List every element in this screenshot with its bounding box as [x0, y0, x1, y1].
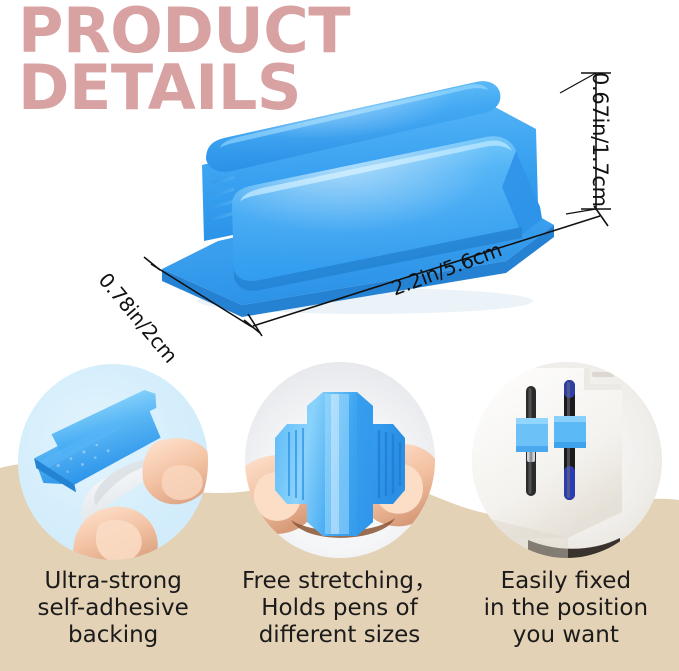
dimension-height-label: 0.67in/1.7cm [588, 72, 612, 207]
feature-photo-stretching [245, 362, 435, 558]
feature-photo-row [0, 362, 679, 572]
feature-photo-adhesive [18, 364, 208, 560]
caption-stretching: Free stretching， Holds pens of different… [226, 566, 452, 671]
feature-photo-placement [472, 362, 662, 558]
caption-placement: Easily fixed in the position you want [453, 566, 679, 671]
caption-adhesive: Ultra-strong self-adhesive backing [0, 566, 226, 671]
product-details-infographic: PRODUCT DETAILS [0, 0, 679, 671]
feature-caption-row: Ultra-strong self-adhesive backing Free … [0, 566, 679, 671]
page-title: PRODUCT DETAILS [18, 2, 350, 116]
